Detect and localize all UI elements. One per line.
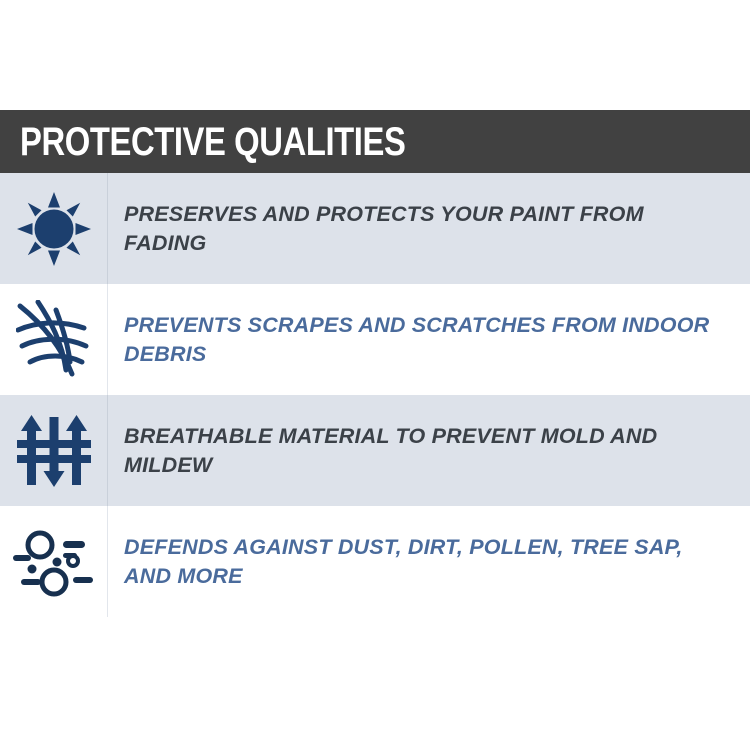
dust-particles-icon: [11, 527, 97, 597]
icon-cell: [0, 506, 108, 617]
protective-qualities-table: PROTECTIVE QUALITIES: [0, 110, 750, 617]
feature-row-mesh: PREVENTS SCRAPES AND SCRATCHES FROM INDO…: [0, 284, 750, 395]
mesh-net-icon: [16, 300, 92, 380]
product-feature-infographic: PROTECTIVE QUALITIES: [0, 0, 750, 750]
sun-icon: [17, 192, 91, 266]
text-cell: PRESERVES AND PROTECTS YOUR PAINT FROM F…: [108, 173, 750, 284]
text-cell: DEFENDS AGAINST DUST, DIRT, POLLEN, TREE…: [108, 506, 750, 617]
page-title: PROTECTIVE QUALITIES: [20, 122, 405, 162]
icon-cell: [0, 395, 108, 506]
breathable-airflow-icon: [16, 413, 92, 489]
text-cell: PREVENTS SCRAPES AND SCRATCHES FROM INDO…: [108, 284, 750, 395]
icon-cell: [0, 173, 108, 284]
text-cell: BREATHABLE MATERIAL TO PREVENT MOLD AND …: [108, 395, 750, 506]
feature-label: PRESERVES AND PROTECTS YOUR PAINT FROM F…: [124, 200, 732, 257]
icon-cell: [0, 284, 108, 395]
feature-row-breathable: BREATHABLE MATERIAL TO PREVENT MOLD AND …: [0, 395, 750, 506]
feature-label: DEFENDS AGAINST DUST, DIRT, POLLEN, TREE…: [124, 533, 732, 590]
feature-label: BREATHABLE MATERIAL TO PREVENT MOLD AND …: [124, 422, 732, 479]
table-header: PROTECTIVE QUALITIES: [0, 110, 750, 173]
feature-row-sun: PRESERVES AND PROTECTS YOUR PAINT FROM F…: [0, 173, 750, 284]
feature-row-dust: DEFENDS AGAINST DUST, DIRT, POLLEN, TREE…: [0, 506, 750, 617]
feature-label: PREVENTS SCRAPES AND SCRATCHES FROM INDO…: [124, 311, 732, 368]
